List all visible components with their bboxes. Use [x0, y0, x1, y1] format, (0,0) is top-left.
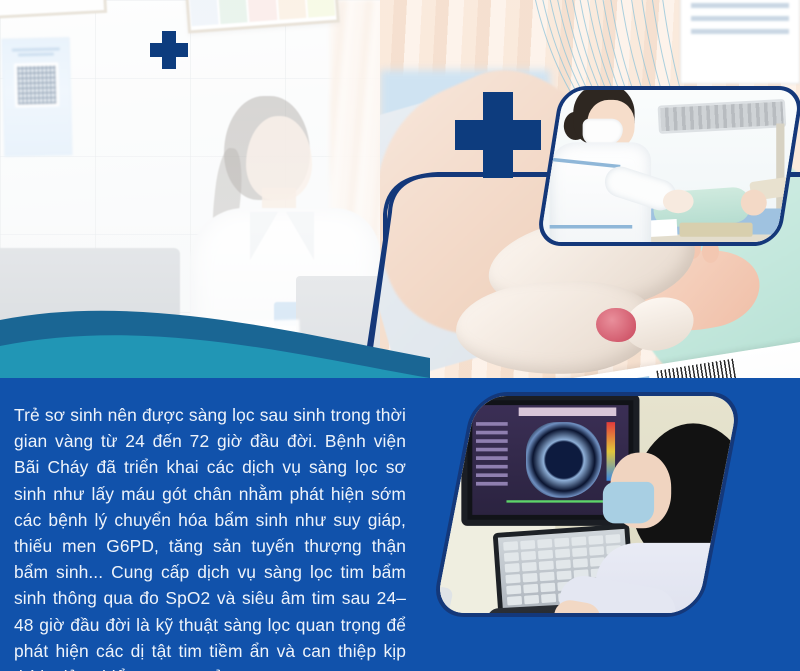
screen-topbar [519, 408, 617, 417]
medical-cross-icon-large [455, 92, 541, 178]
blood-droplet [596, 308, 636, 342]
nurse-gloved-hand [663, 190, 694, 214]
face-mask-icon [603, 482, 654, 523]
ecg-trace [506, 500, 608, 502]
medical-cross-icon-small [150, 31, 188, 69]
photo-nurse-newborn-warmer [535, 86, 800, 246]
instrument-tray [679, 223, 752, 237]
photo-doctor-echocardiography [430, 392, 744, 617]
wall-chart [680, 0, 800, 84]
face-mask-icon [583, 119, 623, 145]
uniform-trim-lower [550, 225, 633, 229]
body-paragraph: Trẻ sơ sinh nên được sàng lọc sau sinh t… [14, 402, 406, 671]
newborn-head [741, 190, 767, 216]
infographic-poster: Trẻ sơ sinh nên được sàng lọc sau sinh t… [0, 0, 800, 671]
echocardiogram-heart-image [526, 422, 602, 498]
